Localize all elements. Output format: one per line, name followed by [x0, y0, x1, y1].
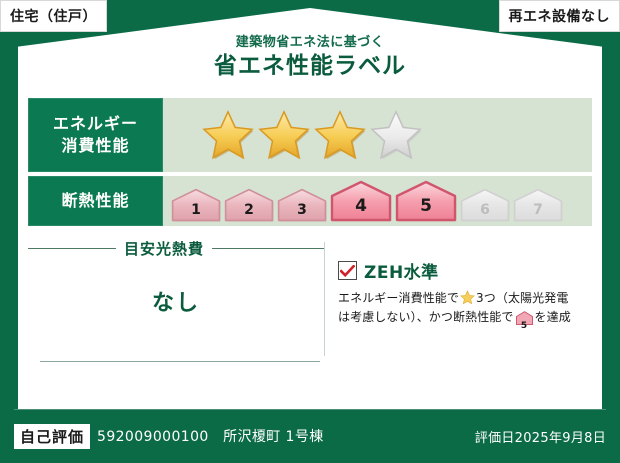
energy-label-card: 住宅（住戸） 再エネ設備なし 建築物省エネ法に基づく 省エネ性能ラベル エネルギ…: [0, 0, 620, 463]
insulation-performance-value: 1234567: [163, 176, 592, 226]
renewable-energy-tag: 再エネ設備なし: [499, 0, 620, 32]
insulation-level-number: 6: [460, 202, 510, 218]
zeh-desc-part3: は考慮しない）、かつ断熱性能で: [338, 310, 514, 324]
cost-bottom-divider: [40, 361, 320, 362]
energy-performance-value: [163, 98, 592, 172]
inline-star-icon: [460, 290, 475, 305]
utility-cost-title: 目安光熱費: [124, 238, 204, 259]
insulation-level-badge: 5: [395, 180, 457, 222]
vertical-divider: [324, 242, 325, 356]
insulation-level-badge: 2: [224, 188, 274, 222]
insulation-level-badge: 1: [171, 188, 221, 222]
cost-rule-left: [28, 248, 116, 249]
page-title: 省エネ性能ラベル: [18, 52, 602, 81]
insulation-level-badge: 4: [330, 180, 392, 222]
insulation-level-number: 3: [277, 202, 327, 218]
insulation-level-number: 1: [171, 202, 221, 218]
zeh-header: ZEH水準: [338, 258, 592, 283]
zeh-checkbox[interactable]: [338, 261, 357, 280]
zeh-desc-part4: を達成: [535, 310, 571, 324]
star-filled-icon: [201, 109, 255, 161]
energy-performance-row: エネルギー 消費性能: [28, 98, 592, 172]
inline-badge-number: 5: [516, 322, 533, 331]
property-identifier: 592009000100 所沢榎町 1号棟: [97, 426, 324, 446]
zeh-desc-part1: エネルギー消費性能で: [338, 291, 459, 305]
insulation-level-number: 2: [224, 202, 274, 218]
zeh-title: ZEH水準: [364, 258, 439, 283]
star-filled-icon: [313, 109, 367, 161]
title-subtitle: 建築物省エネ法に基づく: [18, 36, 602, 50]
star-filled-icon: [257, 109, 311, 161]
zeh-desc-part2: 3つ（太陽光発電: [476, 291, 568, 305]
building-type-tag: 住宅（住戸）: [0, 0, 107, 32]
insulation-level-number: 5: [395, 196, 457, 216]
energy-label-line1: エネルギー: [53, 113, 138, 135]
utility-cost-block: 目安光熱費 なし: [28, 236, 324, 378]
energy-performance-label: エネルギー 消費性能: [28, 98, 163, 172]
insulation-level-badge: 3: [277, 188, 327, 222]
energy-label-line2: 消費性能: [61, 135, 129, 157]
star-empty-icon: [369, 109, 423, 161]
insulation-label-text: 断熱性能: [61, 190, 129, 212]
label-content: エネルギー 消費性能 断熱性能 1234567 目安光熱費: [28, 98, 592, 398]
evaluation-date: 評価日2025年9月8日: [475, 427, 606, 446]
insulation-level-scale: 1234567: [171, 180, 563, 222]
zeh-description: エネルギー消費性能で 3つ（太陽光発電 は考慮しない）、かつ断熱性能で 5 を達…: [338, 289, 592, 332]
insulation-performance-label: 断熱性能: [28, 176, 163, 226]
inline-level-badge: 5: [516, 311, 533, 331]
insulation-level-badge: 7: [513, 188, 563, 222]
footer-bar: 自己評価 592009000100 所沢榎町 1号棟 評価日2025年9月8日: [0, 409, 620, 463]
insulation-level-number: 7: [513, 202, 563, 218]
star-rating: [201, 109, 423, 161]
insulation-level-number: 4: [330, 196, 392, 216]
insulation-performance-row: 断熱性能 1234567: [28, 176, 592, 226]
footer-top-divider: [14, 409, 606, 410]
utility-cost-value: なし: [28, 285, 324, 317]
lower-section: 目安光熱費 なし ZEH水準 エネルギー消費性能で: [28, 236, 592, 378]
utility-cost-header: 目安光熱費: [28, 238, 324, 259]
evaluation-type-badge: 自己評価: [14, 424, 90, 449]
zeh-block: ZEH水準 エネルギー消費性能で 3つ（太陽光発電 は考慮しない）、かつ断熱性能…: [324, 236, 592, 378]
insulation-level-badge: 6: [460, 188, 510, 222]
cost-rule-right: [212, 248, 324, 249]
check-icon: [340, 265, 355, 277]
title-block: 建築物省エネ法に基づく 省エネ性能ラベル: [18, 36, 602, 81]
